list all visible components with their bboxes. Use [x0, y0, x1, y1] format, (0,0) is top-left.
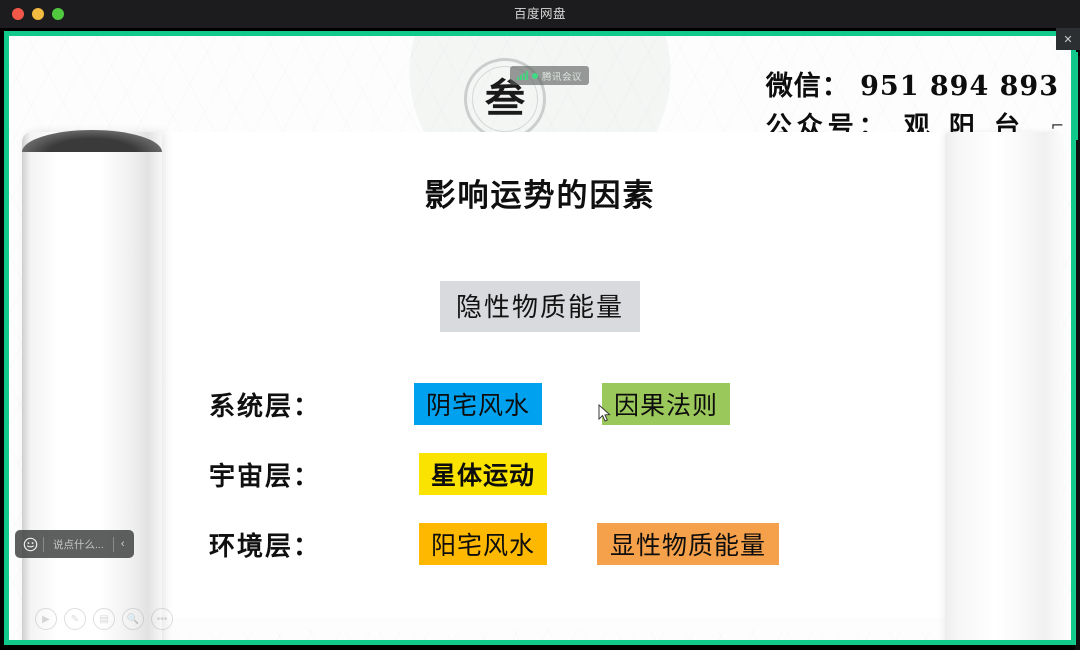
minimize-window-button[interactable] [32, 8, 44, 20]
slide-row: 宇宙层：星体运动 [209, 451, 909, 497]
slide-chip: 因果法则 [602, 383, 730, 425]
slide-surface: 叁 微信： 951 894 893 公众号： 观 阳 台 影响运势的因素 隐性物… [9, 36, 1071, 640]
close-window-button[interactable] [12, 8, 24, 20]
more-icon[interactable]: ••• [151, 608, 173, 630]
right-accent-strip [1072, 52, 1078, 140]
viewer-toolbar: ▶✎▤🔍••• [35, 608, 173, 630]
smiley-icon[interactable] [17, 531, 43, 557]
viewer-close-button[interactable]: ✕ [1056, 28, 1080, 50]
slide-row: 系统层：阴宅风水因果法则 [209, 381, 909, 427]
mouse-cursor [598, 404, 611, 428]
vertical-scrollbar[interactable] [1075, 56, 1080, 650]
bracket-mark: ⌐ [1051, 116, 1064, 135]
slide-content: 影响运势的因素 隐性物质能量 系统层：阴宅风水因果法则宇宙层：星体运动环境层：阳… [9, 36, 1071, 640]
magnifier-icon[interactable]: 🔍 [122, 608, 144, 630]
document-viewer-stage: 叁 微信： 951 894 893 公众号： 观 阳 台 影响运势的因素 隐性物… [0, 28, 1080, 650]
collapse-chevron-icon[interactable]: ‹ [114, 531, 132, 557]
window-title: 百度网盘 [0, 0, 1080, 28]
chat-input[interactable]: 说点什么... [44, 537, 113, 552]
slide-rows: 系统层：阴宅风水因果法则宇宙层：星体运动环境层：阳宅风水显性物质能量 [209, 381, 909, 591]
window-titlebar: 百度网盘 [0, 0, 1080, 28]
slide-chip: 显性物质能量 [597, 523, 779, 565]
slide-row: 环境层：阳宅风水显性物质能量 [209, 521, 909, 567]
pencil-icon[interactable]: ✎ [64, 608, 86, 630]
chat-composer[interactable]: 说点什么... ‹ [15, 530, 134, 558]
slide-title: 影响运势的因素 [9, 170, 1071, 215]
stamp-icon[interactable]: ▤ [93, 608, 115, 630]
slide-subtitle-wrap: 隐性物质能量 [9, 281, 1071, 332]
slide-subtitle: 隐性物质能量 [440, 281, 640, 332]
baidu-netdisk-window: 百度网盘 叁 微信： 951 894 893 公众号： 观 阳 台 [0, 0, 1080, 650]
slide-chip: 阴宅风水 [414, 383, 542, 425]
maximize-window-button[interactable] [52, 8, 64, 20]
slide-row-label: 宇宙层： [209, 456, 414, 493]
slide-row-label: 系统层： [209, 386, 414, 423]
slide-chip: 星体运动 [419, 453, 547, 495]
window-controls [12, 0, 64, 28]
slide-row-label: 环境层： [209, 526, 414, 563]
play-icon[interactable]: ▶ [35, 608, 57, 630]
slide-chip: 阳宅风水 [419, 523, 547, 565]
